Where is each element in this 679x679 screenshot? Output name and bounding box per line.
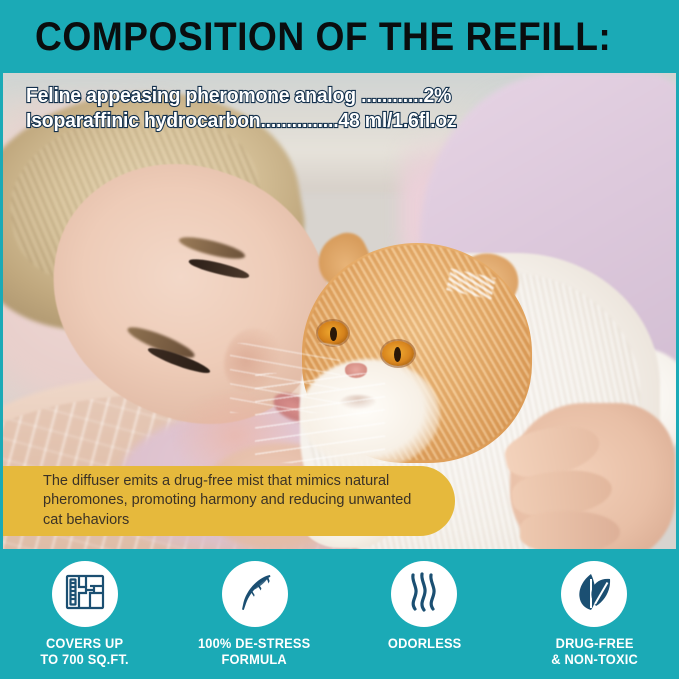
feature-destress-label: 100% DE-STRESS FORMULA xyxy=(198,636,310,668)
feature-destress: 100% DE-STRESS FORMULA xyxy=(170,549,340,679)
feature-coverage-label: COVERS UP TO 700 SQ.FT. xyxy=(41,636,129,668)
cat-whiskers-lower xyxy=(255,373,385,463)
feature-odorless: ODORLESS xyxy=(340,549,510,679)
header-band: COMPOSITION OF THE REFILL: xyxy=(0,0,679,73)
composition-list: Feline appeasing pheromone analog ......… xyxy=(26,84,456,134)
feather-icon xyxy=(234,571,276,618)
composition-line-2: Isoparaffinic hydrocarbon...............… xyxy=(26,109,456,134)
feature-bar: COVERS UP TO 700 SQ.FT. 100% DE-STRESS F… xyxy=(0,549,679,679)
product-infographic-poster: COMPOSITION OF THE REFILL: xyxy=(0,0,679,679)
scent-waves-icon xyxy=(405,571,443,618)
page-title: COMPOSITION OF THE REFILL: xyxy=(35,17,611,57)
feature-destress-icon-badge xyxy=(222,561,288,627)
cat-pupil-left xyxy=(330,327,337,341)
feature-drugfree-icon-badge xyxy=(561,561,627,627)
leaves-icon xyxy=(572,570,616,619)
feature-drugfree: DRUG-FREE & NON-TOXIC xyxy=(509,549,679,679)
feature-drugfree-label: DRUG-FREE & NON-TOXIC xyxy=(551,636,638,668)
feature-odorless-label: ODORLESS xyxy=(388,636,462,652)
feature-coverage-icon-badge xyxy=(52,561,118,627)
composition-line-1: Feline appeasing pheromone analog ......… xyxy=(26,84,456,109)
cat-pupil-right xyxy=(394,347,401,362)
benefit-callout-text: The diffuser emits a drug-free mist that… xyxy=(43,472,433,531)
woman-finger-3 xyxy=(520,511,620,549)
floor-plan-icon xyxy=(64,572,106,617)
feature-odorless-icon-badge xyxy=(391,561,457,627)
benefit-callout: The diffuser emits a drug-free mist that… xyxy=(0,466,455,536)
feature-coverage: COVERS UP TO 700 SQ.FT. xyxy=(0,549,170,679)
